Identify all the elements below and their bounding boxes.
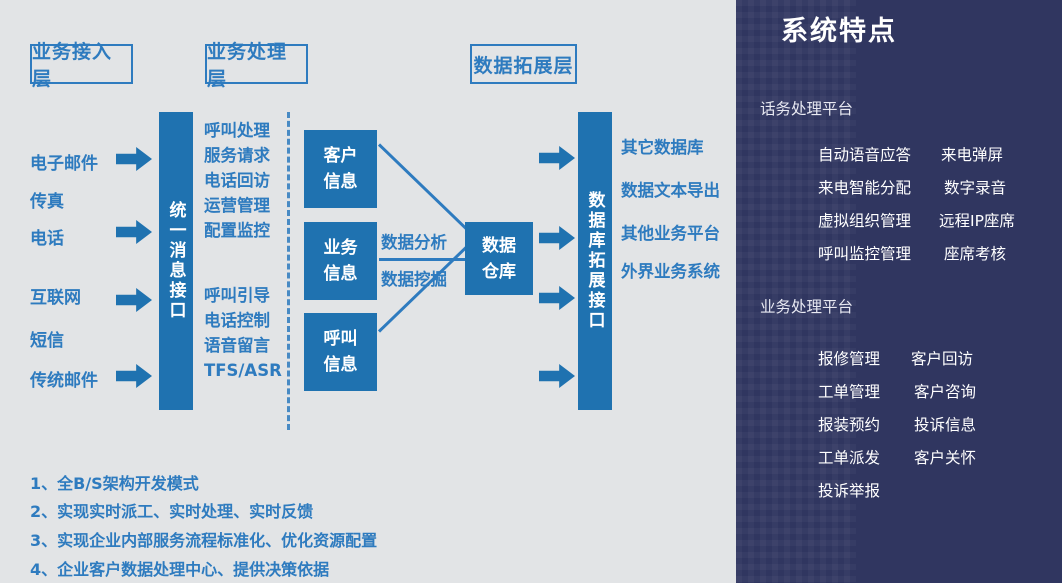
panel-title: 系统特点 [781, 9, 897, 48]
info-box-line: 数据 [482, 233, 516, 259]
panel-feature-item: 报修管理 [818, 347, 880, 369]
process-item: 呼叫引导 [204, 283, 282, 308]
connector-line-customer-warehouse [378, 143, 475, 237]
panel-feature-item: 客户关怀 [914, 446, 976, 468]
arrow-right-icon [539, 285, 575, 311]
bullet-item-3: 3、实现企业内部服务流程标准化、优化资源配置 [30, 527, 377, 551]
panel-section-heading-call-platform: 话务处理平台 [760, 97, 853, 119]
panel-feature-item: 座席考核 [944, 242, 1006, 264]
mid-label-data-mining: 数据挖掘 [381, 266, 447, 290]
info-box-line: 仓库 [482, 259, 516, 285]
output-label-other-database: 其它数据库 [621, 134, 704, 158]
panel-feature-item: 呼叫监控管理 [818, 242, 911, 264]
arrow-right-icon [116, 287, 152, 313]
process-item: 配置监控 [204, 218, 270, 243]
bullet-item-1: 1、全B/S架构开发模式 [30, 470, 199, 494]
panel-feature-item: 工单派发 [818, 446, 880, 468]
panel-feature-item: 报装预约 [818, 413, 880, 435]
info-box-line: 信息 [324, 169, 358, 195]
info-box-line: 呼叫 [324, 326, 358, 352]
input-label-sms: 短信 [30, 326, 64, 351]
mid-label-data-analysis: 数据分析 [381, 229, 447, 253]
info-box-line: 业务 [324, 235, 358, 261]
unified-message-interface-bar: 统一消息接口 [159, 112, 193, 410]
input-label-phone: 电话 [30, 224, 64, 249]
output-label-external-business-system: 外界业务系统 [621, 258, 720, 282]
layer-box-process: 业务处理层 [205, 44, 308, 84]
layer-box-data-expansion: 数据拓展层 [470, 44, 577, 84]
layer-label: 业务处理层 [207, 37, 306, 91]
process-item: 电话回访 [204, 168, 270, 193]
layer-box-access: 业务接入层 [30, 44, 133, 84]
arrow-right-icon [539, 145, 575, 171]
panel-feature-item: 投诉举报 [818, 479, 880, 501]
info-box-line: 信息 [324, 352, 358, 378]
panel-feature-item: 自动语音应答 [818, 143, 911, 165]
arrow-right-icon [539, 363, 575, 389]
system-features-panel: 系统特点 话务处理平台 自动语音应答 来电智能分配 虚拟组织管理 呼叫监控管理 … [736, 0, 1062, 583]
process-item: 服务请求 [204, 143, 270, 168]
panel-feature-item: 投诉信息 [914, 413, 976, 435]
arrow-right-icon [116, 219, 152, 245]
panel-feature-item: 客户回访 [911, 347, 973, 369]
layer-label: 业务接入层 [32, 37, 131, 91]
info-box-call: 呼叫 信息 [304, 313, 377, 391]
layer-label: 数据拓展层 [473, 51, 573, 78]
info-box-business: 业务 信息 [304, 222, 377, 300]
arrow-right-icon [116, 146, 152, 172]
process-group-bottom: 呼叫引导 电话控制 语音留言 TFS/ASR [204, 283, 282, 383]
input-label-internet: 互联网 [30, 283, 81, 308]
db-expansion-interface-bar: 数据库拓展接口 [578, 112, 612, 410]
process-item: 语音留言 [204, 333, 282, 358]
slide-canvas: 业务接入层 业务处理层 数据拓展层 电子邮件 传真 电话 互联网 短信 传统邮件… [0, 0, 1062, 583]
panel-feature-item: 远程IP座席 [939, 209, 1015, 231]
bullet-item-2: 2、实现实时派工、实时处理、实时反馈 [30, 498, 313, 522]
panel-feature-item: 工单管理 [818, 380, 880, 402]
process-item: 运营管理 [204, 193, 270, 218]
db-expansion-interface-label: 数据库拓展接口 [583, 191, 608, 331]
panel-feature-item: 数字录音 [944, 176, 1006, 198]
info-box-customer: 客户 信息 [304, 130, 377, 208]
arrow-right-icon [116, 363, 152, 389]
dotted-divider [287, 112, 290, 430]
output-label-other-business-platform: 其他业务平台 [621, 220, 720, 244]
panel-feature-item: 客户咨询 [914, 380, 976, 402]
output-label-data-text-export: 数据文本导出 [621, 177, 720, 201]
panel-section-heading-business-platform: 业务处理平台 [760, 295, 853, 317]
panel-feature-item: 来电弹屏 [941, 143, 1003, 165]
bullet-item-4: 4、企业客户数据处理中心、提供决策依据 [30, 556, 329, 580]
process-item: 电话控制 [204, 308, 282, 333]
process-item: 呼叫处理 [204, 118, 270, 143]
info-box-line: 信息 [324, 261, 358, 287]
input-label-postal-mail: 传统邮件 [30, 366, 98, 391]
input-label-fax: 传真 [30, 187, 64, 212]
info-box-data-warehouse: 数据 仓库 [465, 222, 533, 295]
info-box-line: 客户 [324, 143, 358, 169]
panel-feature-item: 来电智能分配 [818, 176, 911, 198]
process-item: TFS/ASR [204, 358, 282, 383]
panel-feature-item: 虚拟组织管理 [818, 209, 911, 231]
arrow-right-icon [539, 225, 575, 251]
process-group-top: 呼叫处理 服务请求 电话回访 运营管理 配置监控 [204, 118, 270, 243]
input-label-email: 电子邮件 [30, 149, 98, 174]
unified-message-interface-label: 统一消息接口 [164, 201, 189, 321]
